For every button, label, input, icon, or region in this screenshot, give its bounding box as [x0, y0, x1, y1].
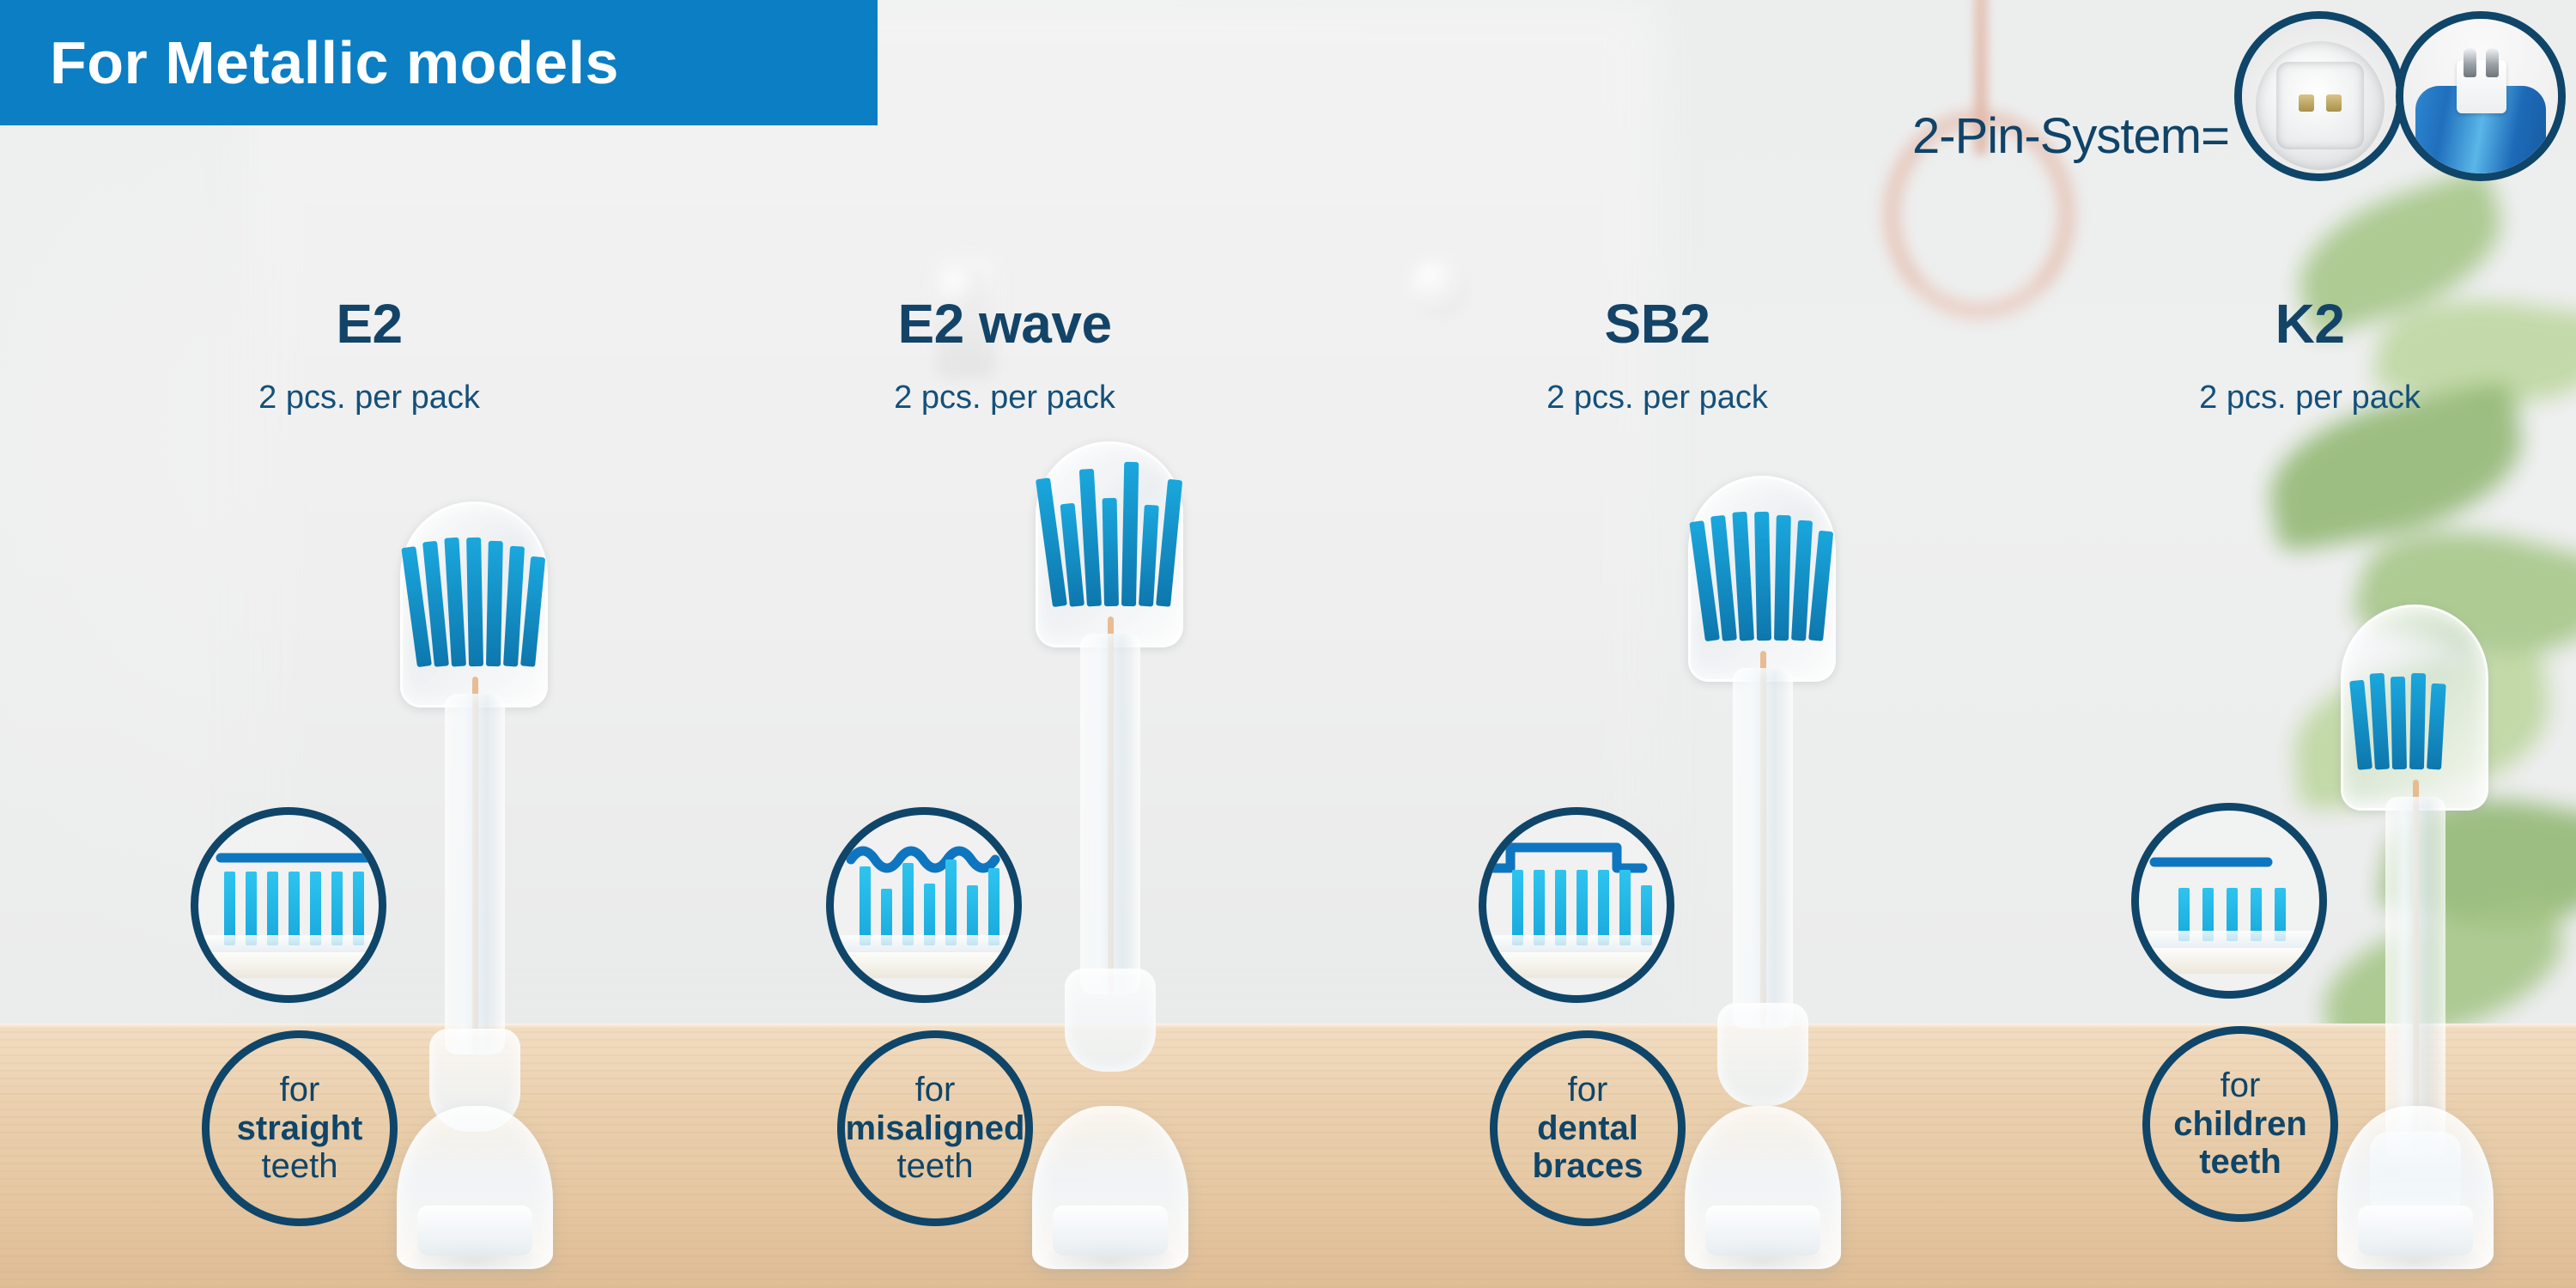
- bristle-tuft: [1619, 870, 1631, 945]
- bristle-tuft: [1103, 498, 1119, 606]
- bristle-tuft: [1754, 512, 1771, 641]
- use-case-line: for: [280, 1071, 320, 1109]
- bristle-tuft: [1139, 505, 1159, 607]
- bristle-profile-illustration: [2139, 811, 2319, 991]
- brush-plate-clear: [204, 935, 386, 954]
- brush-head-photo: [2336, 617, 2495, 1269]
- use-case-line: straight: [237, 1109, 363, 1148]
- brush-base: [1685, 1106, 1841, 1269]
- use-case-badge: forchildrenteeth: [2142, 1026, 2338, 1222]
- use-case-line: braces: [1533, 1147, 1643, 1186]
- bristle-tuft: [1577, 870, 1588, 945]
- product-title: E2: [52, 292, 687, 355]
- bristle-tuft: [2349, 680, 2372, 770]
- brush-collar: [1717, 1003, 1808, 1106]
- bristle-tuft: [466, 538, 483, 666]
- brush-head-photo: [1030, 453, 1190, 1269]
- brush-neck: [1733, 668, 1793, 1029]
- use-case-line: teeth: [897, 1147, 974, 1186]
- brush-plate-clear: [839, 935, 1022, 954]
- brush-plate-clear: [1492, 935, 1674, 954]
- product-pack-count: 2 pcs. per pack: [687, 380, 1322, 416]
- product-pack-count: 2 pcs. per pack: [1340, 380, 1975, 416]
- product-card-k2: K22 pcs. per packforchildrenteeth: [1992, 0, 2576, 1288]
- use-case-line: for: [915, 1071, 956, 1109]
- brush-base: [2337, 1106, 2494, 1269]
- product-card-e2: E22 pcs. per packforstraightteeth: [52, 0, 687, 1288]
- bristle-tuft: [1121, 462, 1139, 606]
- brush-plate: [1492, 952, 1674, 978]
- use-case-badge: forstraightteeth: [202, 1030, 398, 1226]
- bristle-tuft: [2409, 673, 2426, 769]
- bristle-tuft: [1732, 512, 1754, 641]
- brush-neck: [2385, 797, 2445, 1157]
- use-case-line: teeth: [262, 1147, 338, 1186]
- brush-collar: [1065, 969, 1156, 1072]
- brush-base: [397, 1106, 553, 1269]
- bristle-profile-illustration: [834, 815, 1014, 995]
- bristle-tuft: [902, 863, 914, 945]
- brush-bristles: [1044, 453, 1173, 617]
- wavy-bristle-profile-icon: [826, 807, 1022, 1003]
- brush-plate-clear: [2144, 931, 2327, 950]
- product-pack-count: 2 pcs. per pack: [52, 380, 687, 416]
- bristle-tuft: [486, 541, 503, 666]
- brush-base: [1032, 1106, 1188, 1269]
- bristle-tuft: [1598, 870, 1609, 945]
- use-case-line: for: [2221, 1066, 2261, 1105]
- brush-plate: [839, 952, 1022, 978]
- bristle-tuft: [2370, 673, 2390, 770]
- brush-bristles: [409, 513, 538, 677]
- product-title: SB2: [1340, 292, 1975, 355]
- short-straight-bristle-profile-icon: [2131, 803, 2327, 999]
- brush-neck: [1080, 634, 1140, 994]
- brush-head-photo: [1683, 488, 1843, 1269]
- use-case-badge: fordentalbraces: [1490, 1030, 1686, 1226]
- bristle-tuft: [2427, 683, 2446, 770]
- brush-bristles: [2349, 617, 2478, 780]
- use-case-line: teeth: [2199, 1143, 2281, 1182]
- bristle-tuft: [860, 866, 871, 945]
- bristle-tuft: [945, 860, 957, 945]
- use-case-line: dental: [1537, 1109, 1638, 1148]
- product-pack-count: 2 pcs. per pack: [1992, 380, 2576, 416]
- brush-head-photo: [395, 513, 555, 1269]
- bristle-tuft: [1774, 515, 1791, 641]
- product-card-e2-wave: E2 wave2 pcs. per packformisalignedteeth: [687, 0, 1322, 1288]
- bristle-tuft: [1555, 870, 1566, 945]
- bristle-tuft: [444, 538, 466, 667]
- straight-bristle-profile-icon: [191, 807, 386, 1003]
- bristle-tuft: [1512, 870, 1523, 945]
- use-case-line: misaligned: [846, 1109, 1025, 1148]
- brush-plate: [204, 952, 386, 978]
- use-case-line: children: [2173, 1105, 2307, 1144]
- bristle-profile-illustration: [1486, 815, 1667, 995]
- product-card-sb2: SB22 pcs. per packfordentalbraces: [1340, 0, 1975, 1288]
- bristle-tuft: [1534, 870, 1545, 945]
- bristle-tuft: [2391, 677, 2407, 769]
- stepped-bristle-profile-icon: [1479, 807, 1674, 1003]
- brush-neck: [445, 694, 505, 1054]
- use-case-badge: formisalignedteeth: [837, 1030, 1033, 1226]
- product-title: K2: [1992, 292, 2576, 355]
- bristle-profile-illustration: [198, 815, 379, 995]
- product-title: E2 wave: [687, 292, 1322, 355]
- use-case-line: for: [1568, 1071, 1608, 1109]
- brush-plate: [2144, 948, 2327, 974]
- brush-bristles: [1697, 488, 1826, 651]
- bristle-tuft: [988, 868, 999, 945]
